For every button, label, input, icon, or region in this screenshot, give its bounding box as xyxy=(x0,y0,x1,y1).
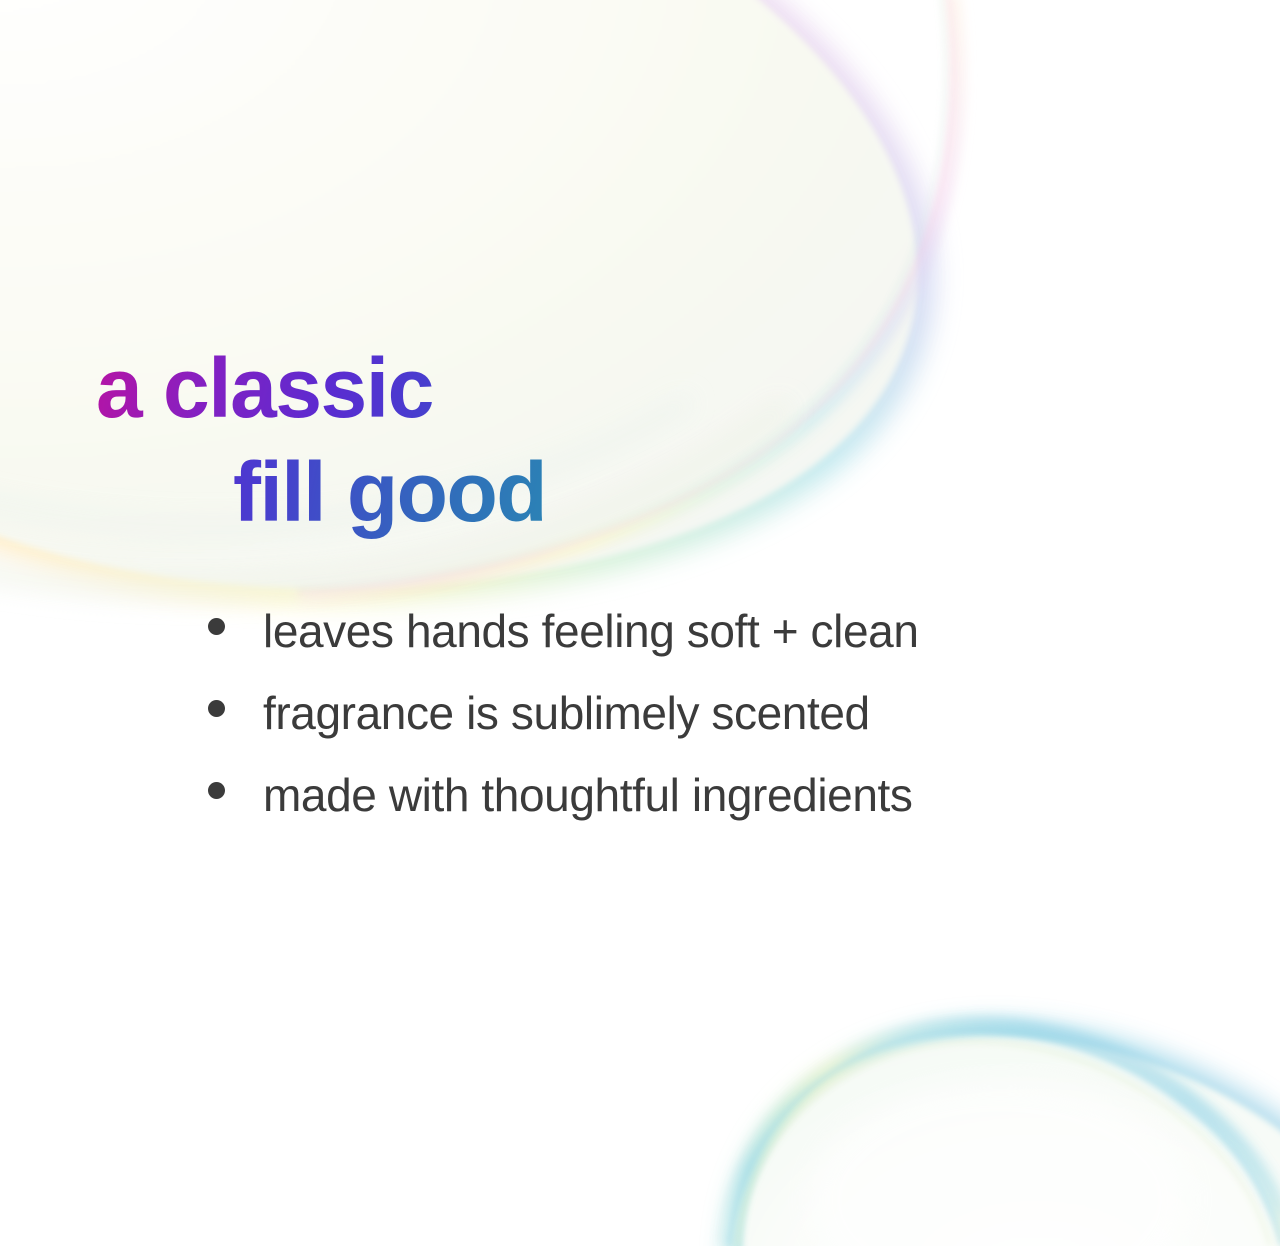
bullet-dot-icon xyxy=(208,782,225,799)
list-item: leaves hands feeling soft + clean xyxy=(208,604,919,686)
bullet-dot-icon xyxy=(208,700,225,717)
benefit-label: made with thoughtful ingredients xyxy=(263,768,913,822)
bullet-dot-icon xyxy=(208,618,225,635)
page-title: a classic fill good story xyxy=(0,336,1280,544)
benefit-label: leaves hands feeling soft + clean xyxy=(263,604,919,658)
list-item: made with thoughtful ingredients xyxy=(208,768,919,850)
headline-line-1: a classic xyxy=(0,336,1280,440)
list-item: fragrance is sublimely scented xyxy=(208,686,919,768)
promo-banner: a classic fill good story leaves hands f… xyxy=(0,0,1280,1246)
benefit-label: fragrance is sublimely scented xyxy=(263,686,870,740)
benefits-list: leaves hands feeling soft + clean fragra… xyxy=(208,604,919,850)
headline-line-2: fill good story xyxy=(0,440,1280,544)
content-layer: a classic fill good story leaves hands f… xyxy=(0,0,1280,1246)
